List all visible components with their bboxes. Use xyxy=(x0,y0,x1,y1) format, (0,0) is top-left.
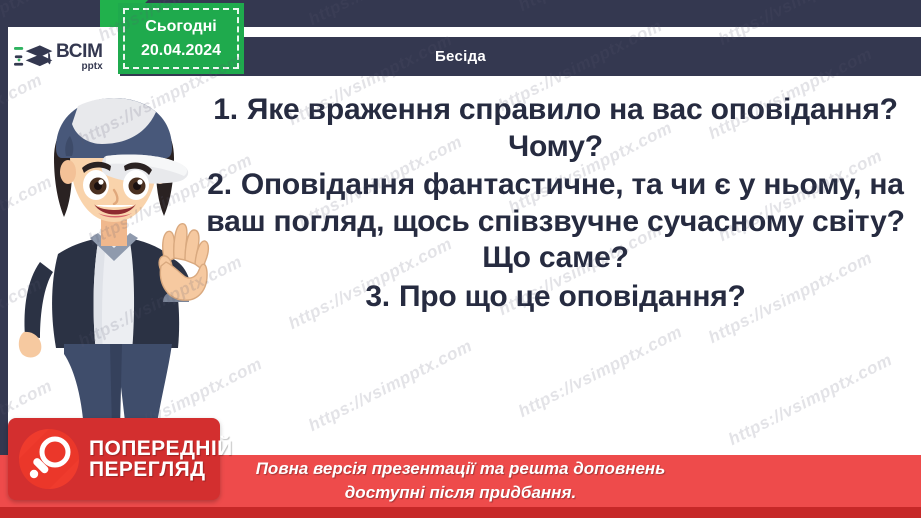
list-item-text: Про що це оповідання? xyxy=(399,280,746,313)
list-item: 2.Оповідання фантастичне, та чи є у ньом… xyxy=(200,167,911,277)
list-item-text: Оповідання фантастичне, та чи є у ньому,… xyxy=(206,168,904,274)
date-badge-value: 20.04.2024 xyxy=(141,39,221,62)
list-item-number: 1. xyxy=(213,93,238,126)
preview-badge-text: ПОПЕРЕДНІЙ ПЕРЕГЛЯД xyxy=(89,438,233,481)
today-date-badge: Сьогодні 20.04.2024 xyxy=(118,3,244,74)
bottom-accent-strip xyxy=(0,507,921,518)
watermark-text: https://vsimpptx.com xyxy=(305,336,475,436)
list-item: 3.Про що це оповідання? xyxy=(200,279,911,316)
purchase-notice-line2: доступні після придбання. xyxy=(345,481,576,505)
brand-name: ВСІМ xyxy=(56,42,103,61)
list-item: 1.Яке враження справило на вас оповіданн… xyxy=(200,92,911,165)
watermark-text: https://vsimpptx.com xyxy=(515,322,685,422)
slide-canvas: Бесіда ВСІМ pptx Сьогодні 20.04.2024 xyxy=(0,0,921,518)
waving-boy-illustration xyxy=(6,86,221,431)
preview-badge-line2: ПЕРЕГЛЯД xyxy=(89,459,233,480)
preview-badge[interactable]: ПОПЕРЕДНІЙ ПЕРЕГЛЯД xyxy=(8,418,220,500)
question-list: 1.Яке враження справило на вас оповіданн… xyxy=(200,92,911,318)
graduation-cap-icon xyxy=(14,40,54,74)
purchase-notice-line1: Повна версія презентації та решта доповн… xyxy=(256,457,666,481)
page-title: Бесіда xyxy=(435,48,486,65)
list-item-number: 3. xyxy=(365,280,390,313)
brand-logo: ВСІМ pptx xyxy=(8,27,120,86)
magnifier-icon xyxy=(17,427,81,491)
list-item-number: 2. xyxy=(207,168,232,201)
watermark-text: https://vsimpptx.com xyxy=(725,350,895,450)
date-badge-label: Сьогодні xyxy=(145,15,216,38)
list-item-text: Яке враження справило на вас оповідання?… xyxy=(247,93,898,163)
preview-badge-line1: ПОПЕРЕДНІЙ xyxy=(89,438,233,459)
brand-logo-text: ВСІМ pptx xyxy=(56,42,103,72)
brand-suffix: pptx xyxy=(56,62,103,72)
